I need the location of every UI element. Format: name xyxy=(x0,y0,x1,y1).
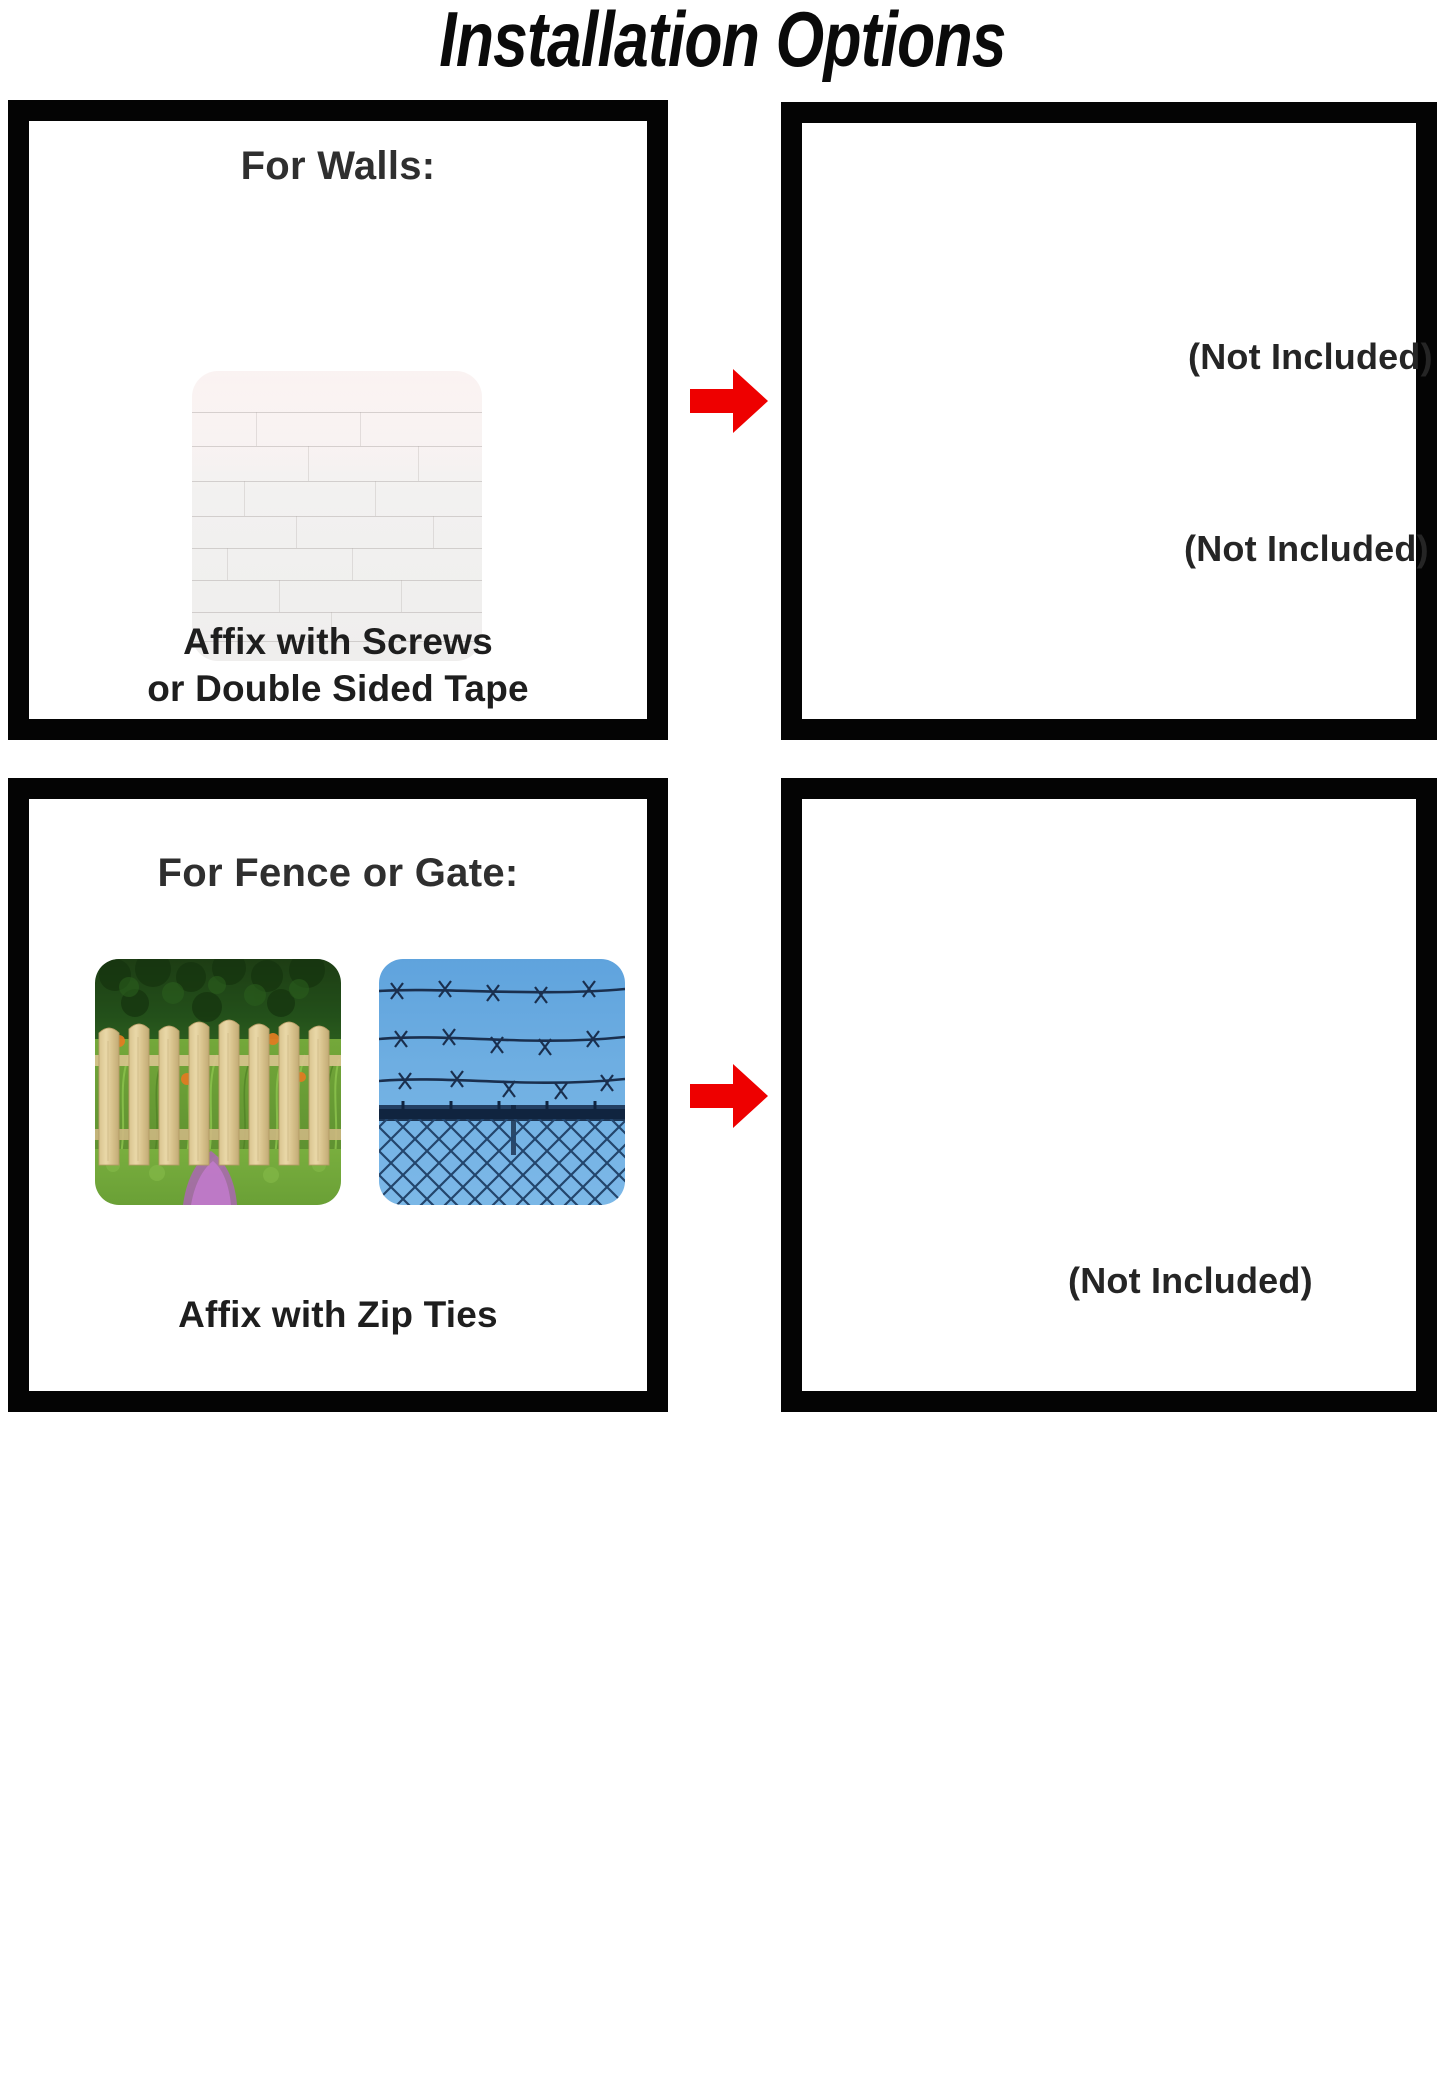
arrow-right-icon xyxy=(688,367,770,435)
arrow-right-icon xyxy=(688,1062,770,1130)
for-fence-heading: For Fence or Gate: xyxy=(29,851,647,896)
wall-highlight xyxy=(192,371,482,475)
panel-wall-hardware-content: (Not Included) xyxy=(802,123,1416,719)
panel-wall-hardware: (Not Included) xyxy=(781,102,1437,740)
panel-for-walls-content: For Walls: Affix w xyxy=(29,121,647,719)
panel-for-walls: For Walls: Affix w xyxy=(8,100,668,740)
panel-fence-hardware: (Not Included) xyxy=(781,778,1437,1412)
for-walls-heading: For Walls: xyxy=(29,144,647,189)
panel-for-fence-or-gate: For Fence or Gate: xyxy=(8,778,668,1412)
panel-fence-hardware-content: (Not Included) xyxy=(802,799,1416,1391)
tape-not-included-label: (Not Included) xyxy=(1188,336,1433,378)
page-title: Installation Options xyxy=(145,0,1301,82)
ziptie-not-included-label: (Not Included) xyxy=(1068,1260,1313,1302)
for-fence-caption: Affix with Zip Ties xyxy=(29,1291,647,1338)
chain-link-fence-photo xyxy=(379,959,625,1205)
wooden-picket-fence-photo xyxy=(95,959,341,1205)
for-walls-caption-line2: or Double Sided Tape xyxy=(147,668,529,709)
for-walls-caption-line1: Affix with Screws xyxy=(183,621,493,662)
panel-for-fence-content: For Fence or Gate: xyxy=(29,799,647,1391)
for-walls-caption: Affix with Screws or Double Sided Tape xyxy=(29,618,647,712)
screws-not-included-label: (Not Included) xyxy=(1184,528,1429,570)
